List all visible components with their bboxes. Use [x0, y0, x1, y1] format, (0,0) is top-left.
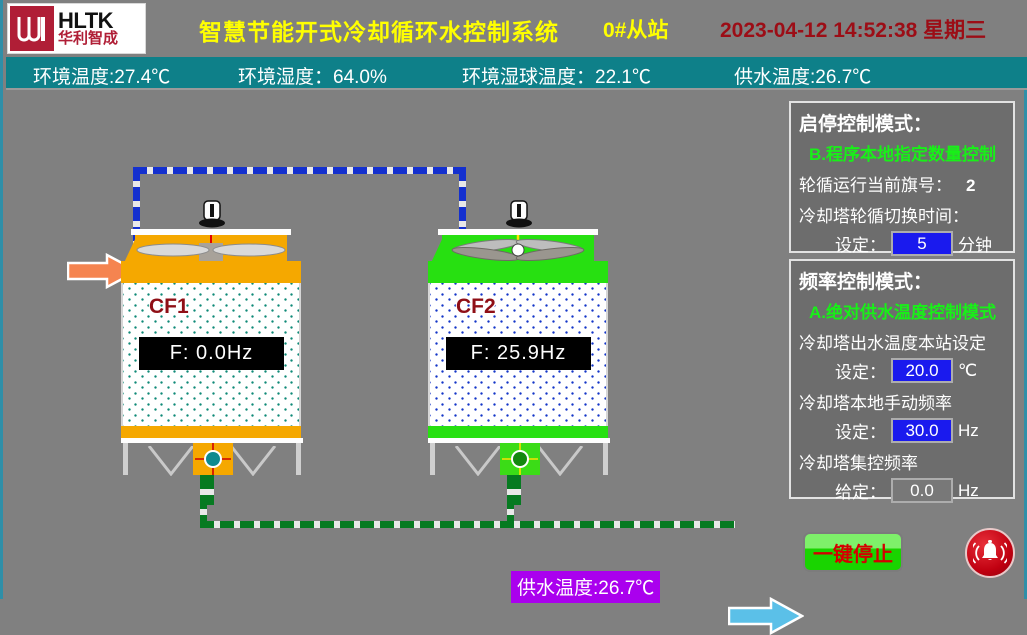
environment-status-bar: 环境温度:27.4℃ 环境湿度：64.0% 环境湿球温度：22.1℃ 供水温度:… [6, 57, 1027, 90]
rotation-flag-label: 轮循运行当前旗号： [799, 176, 952, 195]
rotation-flag-row: 轮循运行当前旗号：2 [799, 171, 1013, 196]
alarm-bell-icon [973, 538, 1007, 568]
hmi-screen: HLTK 华利智成 智慧节能开式冷却循环水控制系统 0#从站 2023-04-1… [0, 0, 1027, 599]
tower-downcomer-cf1 [207, 475, 214, 505]
outlet-temp-setting-label: 冷却塔出水温度本站设定 [799, 329, 1013, 354]
rotation-flag-value: 2 [966, 176, 975, 195]
ambient-temperature: 环境温度:27.4℃ [33, 62, 170, 89]
company-logo: HLTK 华利智成 [7, 3, 146, 54]
switch-time-input[interactable]: 5 [891, 231, 953, 256]
fan-motor-icon [506, 200, 532, 230]
datetime-display: 2023-04-12 14:52:38 星期三 [720, 14, 986, 44]
outlet-temp-setting-row: 设定： 20.0 ℃ [835, 358, 1013, 383]
outlet-temp-unit: ℃ [958, 361, 977, 381]
tower-frequency-display-cf1: F: 0.0Hz [139, 337, 284, 370]
supply-pipe-header [133, 167, 466, 174]
start-stop-control-panel: 启停控制模式： B.程序本地指定数量控制 轮循运行当前旗号：2 冷却塔轮循切换时… [789, 101, 1015, 253]
start-stop-mode-value[interactable]: B.程序本地指定数量控制 [809, 140, 1013, 165]
manual-frequency-set-label: 设定： [835, 418, 886, 443]
ambient-wetbulb-temperature: 环境湿球温度：22.1℃ [462, 62, 651, 89]
fan-motor-icon [199, 200, 225, 230]
tower-leg-left [123, 443, 128, 475]
logo-text-en: HLTK [58, 11, 145, 31]
manual-frequency-row: 设定： 30.0 Hz [835, 418, 1013, 443]
tower-top-band [121, 261, 301, 283]
central-frequency-row: 给定： 0.0 Hz [835, 478, 1013, 503]
tower-bottom-band [428, 426, 608, 438]
manual-frequency-label: 冷却塔本地手动频率 [799, 389, 1013, 414]
outlet-temp-set-label: 设定： [835, 358, 886, 383]
return-pipe-riser-cf1 [200, 475, 207, 525]
frequency-panel-title: 频率控制模式： [799, 267, 1013, 294]
switch-time-set-label: 设定： [835, 231, 886, 256]
return-pipe-header [200, 521, 735, 528]
switch-time-unit: 分钟 [958, 231, 992, 256]
manual-frequency-input[interactable]: 30.0 [891, 418, 953, 443]
outlet-flow-arrow [728, 597, 804, 635]
stop-all-button[interactable]: 一键停止 [803, 532, 903, 572]
hltk-logo-mark [10, 6, 54, 51]
tower-label-cf2: CF2 [456, 295, 496, 319]
frequency-mode-value[interactable]: A.绝对供水温度控制模式 [809, 298, 1013, 323]
tower-top-band [428, 261, 608, 283]
logo-text-cn: 华利智成 [58, 31, 145, 47]
supply-water-temperature: 供水温度:26.7℃ [734, 62, 871, 89]
outlet-valve-cf1[interactable] [193, 443, 233, 475]
alarm-button[interactable] [965, 528, 1015, 578]
frequency-control-panel: 频率控制模式： A.绝对供水温度控制模式 冷却塔出水温度本站设定 设定： 20.… [789, 259, 1015, 499]
tower-leg-right [603, 443, 608, 475]
tower-label-cf1: CF1 [149, 295, 189, 319]
switch-time-label: 冷却塔轮循切换时间： [799, 202, 1013, 227]
outlet-valve-cf2[interactable] [500, 443, 540, 475]
page-title: 智慧节能开式冷却循环水控制系统 [199, 13, 559, 47]
supply-water-temp-tag: 供水温度:26.7℃ [511, 571, 660, 603]
logo-glyph-icon [17, 15, 47, 43]
ambient-humidity: 环境湿度：64.0% [238, 62, 387, 89]
tower-frequency-display-cf2: F: 25.9Hz [446, 337, 591, 370]
tower-leg-right [296, 443, 301, 475]
outlet-temp-input[interactable]: 20.0 [891, 358, 953, 383]
substation-id: 0#从站 [603, 14, 668, 44]
return-pipe-riser-cf2 [507, 475, 514, 525]
valve-icon [500, 443, 540, 475]
tower-leg-left [430, 443, 435, 475]
manual-frequency-unit: Hz [958, 421, 979, 441]
central-frequency-unit: Hz [958, 481, 979, 501]
switch-time-row: 设定： 5 分钟 [835, 231, 1013, 256]
central-frequency-value: 0.0 [891, 478, 953, 503]
start-stop-panel-title: 启停控制模式： [799, 109, 1013, 136]
valve-icon [193, 443, 233, 475]
header-bar: HLTK 华利智成 智慧节能开式冷却循环水控制系统 0#从站 2023-04-1… [3, 0, 1027, 57]
central-frequency-label: 冷却塔集控频率 [799, 449, 1013, 474]
tower-bottom-band [121, 426, 301, 438]
central-frequency-set-label: 给定： [835, 478, 886, 503]
tower-downcomer-cf2 [514, 475, 521, 505]
